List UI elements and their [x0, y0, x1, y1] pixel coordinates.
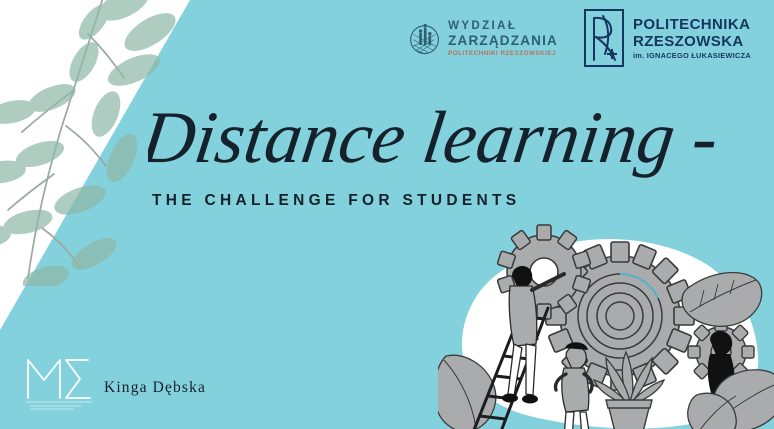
circular-lattice-emblem-icon — [408, 12, 441, 66]
ms-monogram-logo — [22, 350, 100, 412]
logo-wydzial-line3: POLITECHNIKI RZESZOWSKIEJ — [448, 51, 558, 57]
presentation-slide: WYDZIAŁ ZARZĄDZANIA POLITECHNIKI RZESZOW… — [0, 0, 774, 429]
logo-politechnika-line1: POLITECHNIKA — [633, 17, 751, 32]
title-script-label: Distance learning - — [148, 97, 723, 179]
logo-politechnika-line3: im. IGNACEGO ŁUKASIEWICZA — [633, 52, 751, 59]
logo-wydzial-zarzadzania: WYDZIAŁ ZARZĄDZANIA POLITECHNIKI RZESZOW… — [408, 8, 558, 70]
logo-politechnika-rzeszowska: POLITECHNIKA RZESZOWSKA im. IGNACEGO ŁUK… — [583, 4, 753, 72]
author-name: Kinga Dębska — [104, 379, 206, 397]
title-script-text: Distance learning - — [148, 96, 748, 188]
logo-wydzial-line2: ZARZĄDZANIA — [448, 34, 558, 48]
logo-politechnika-line2: RZESZOWSKA — [633, 34, 751, 49]
logo-wydzial-line1: WYDZIAŁ — [448, 21, 558, 33]
title-subtitle: THE CHALLENGE FOR STUDENTS — [152, 192, 520, 210]
pr-monogram-emblem-icon — [583, 8, 625, 68]
gears-teamwork-illustration — [438, 224, 774, 429]
